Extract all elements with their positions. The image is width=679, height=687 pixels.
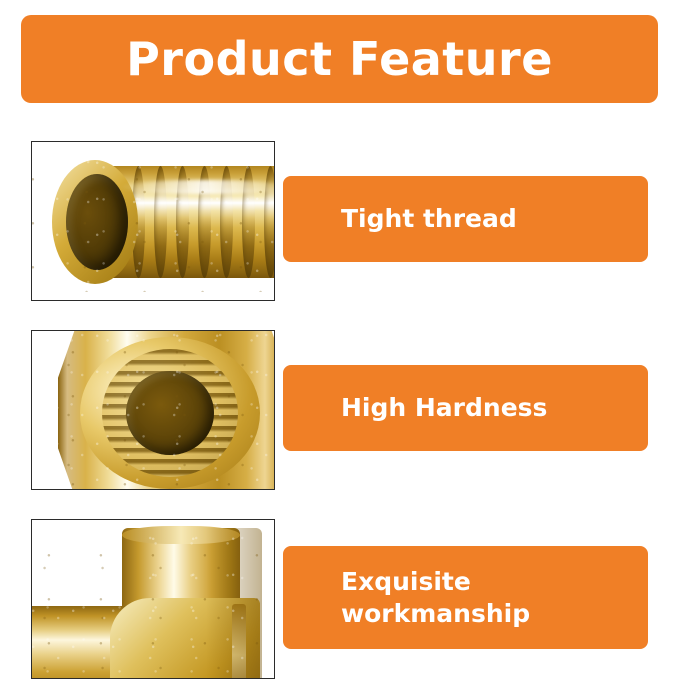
feature-label: High Hardness bbox=[341, 392, 547, 424]
feature-label-bar-high-hardness: High Hardness bbox=[283, 365, 648, 451]
feature-label-line-1: Exquisite bbox=[341, 567, 471, 596]
elbow-shadow bbox=[206, 528, 262, 678]
feature-row: Exquisite workmanship bbox=[0, 519, 679, 687]
feature-row: High Hardness bbox=[0, 330, 679, 498]
product-photo bbox=[32, 331, 274, 489]
feature-label-line-2: workmanship bbox=[341, 599, 530, 628]
feature-image-high-hardness bbox=[31, 330, 275, 490]
page-title: Product Feature bbox=[126, 36, 553, 82]
feature-label: Tight thread bbox=[341, 203, 517, 235]
product-photo bbox=[32, 142, 274, 300]
brass-nipple-illustration bbox=[32, 152, 274, 292]
brass-elbow-illustration bbox=[32, 528, 274, 678]
product-feature-title-banner: Product Feature bbox=[21, 15, 658, 103]
hex-bore bbox=[126, 371, 214, 455]
feature-label-bar-tight-thread: Tight thread bbox=[283, 176, 648, 262]
product-photo bbox=[32, 520, 274, 678]
feature-row: Tight thread bbox=[0, 141, 679, 309]
feature-image-tight-thread bbox=[31, 141, 275, 301]
nipple-bore bbox=[66, 174, 128, 270]
feature-label-bar-exquisite-workmanship: Exquisite workmanship bbox=[283, 546, 648, 649]
feature-image-exquisite-workmanship bbox=[31, 519, 275, 679]
brass-hex-fitting-illustration bbox=[50, 331, 274, 489]
feature-label: Exquisite workmanship bbox=[341, 566, 530, 630]
